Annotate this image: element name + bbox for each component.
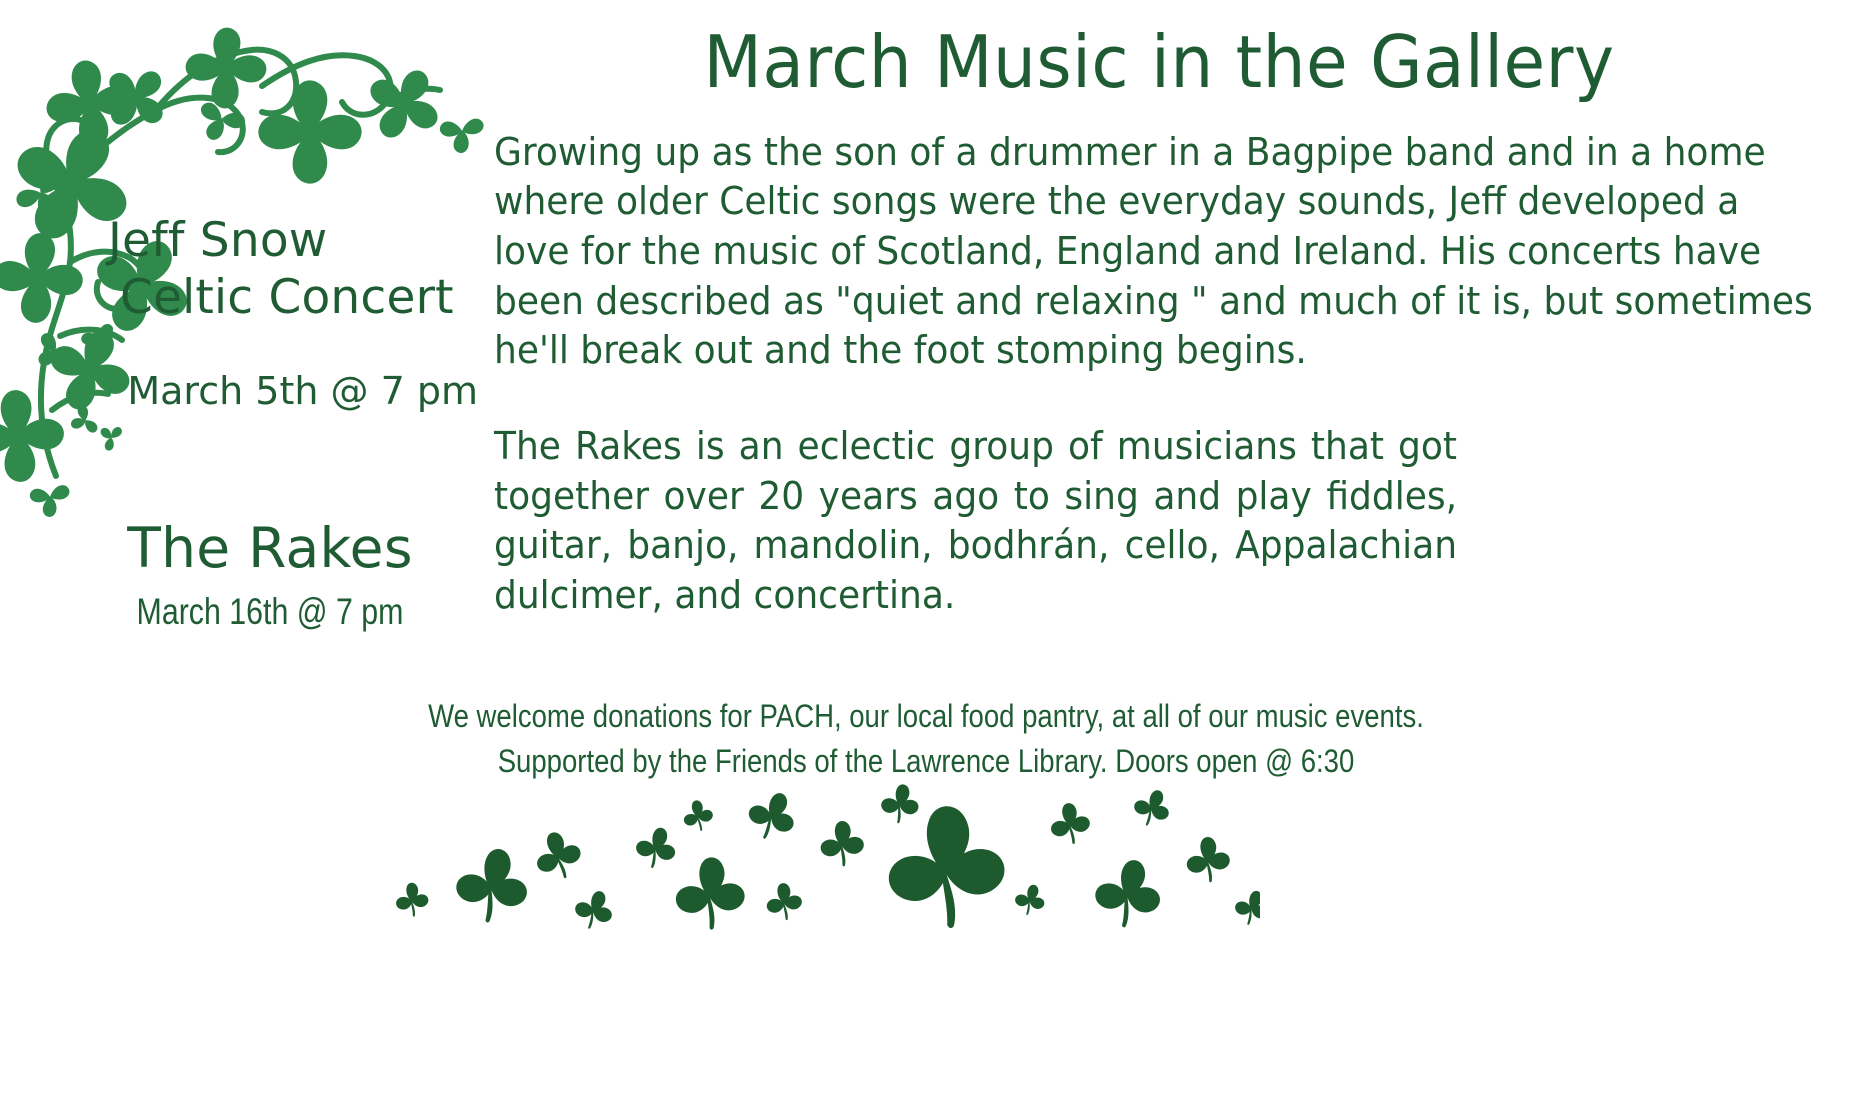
paragraph-jeff-snow-bio: Growing up as the son of a drummer in a … — [494, 128, 1825, 376]
main-content: March Music in the Gallery Growing up as… — [494, 24, 1824, 621]
footer-note: We welcome donations for PACH, our local… — [0, 694, 1852, 785]
event-block-the-rakes: The Rakes March 16th @ 7 pm — [60, 518, 480, 635]
event-date-the-rakes: March 16th @ 7 pm — [98, 589, 442, 635]
event-date-jeff-snow: March 5th @ 7 pm — [60, 369, 480, 415]
event-name-the-rakes: The Rakes — [60, 518, 480, 579]
footer-line-support: Supported by the Friends of the Lawrence… — [130, 739, 1723, 784]
event-name-jeff-snow: Jeff Snow Celtic Concert — [60, 212, 480, 327]
event-name-line-1: Jeff Snow — [108, 212, 480, 269]
paragraph-the-rakes-bio: The Rakes is an eclectic group of musici… — [494, 422, 1457, 621]
event-block-jeff-snow: Jeff Snow Celtic Concert March 5th @ 7 p… — [60, 212, 480, 414]
event-name-line-2: Celtic Concert — [108, 269, 480, 326]
footer-line-donations: We welcome donations for PACH, our local… — [130, 694, 1723, 739]
poster-canvas: Jeff Snow Celtic Concert March 5th @ 7 p… — [0, 0, 1852, 1114]
shamrock-cluster-icon — [380, 782, 1260, 942]
page-title: March Music in the Gallery — [534, 24, 1784, 102]
